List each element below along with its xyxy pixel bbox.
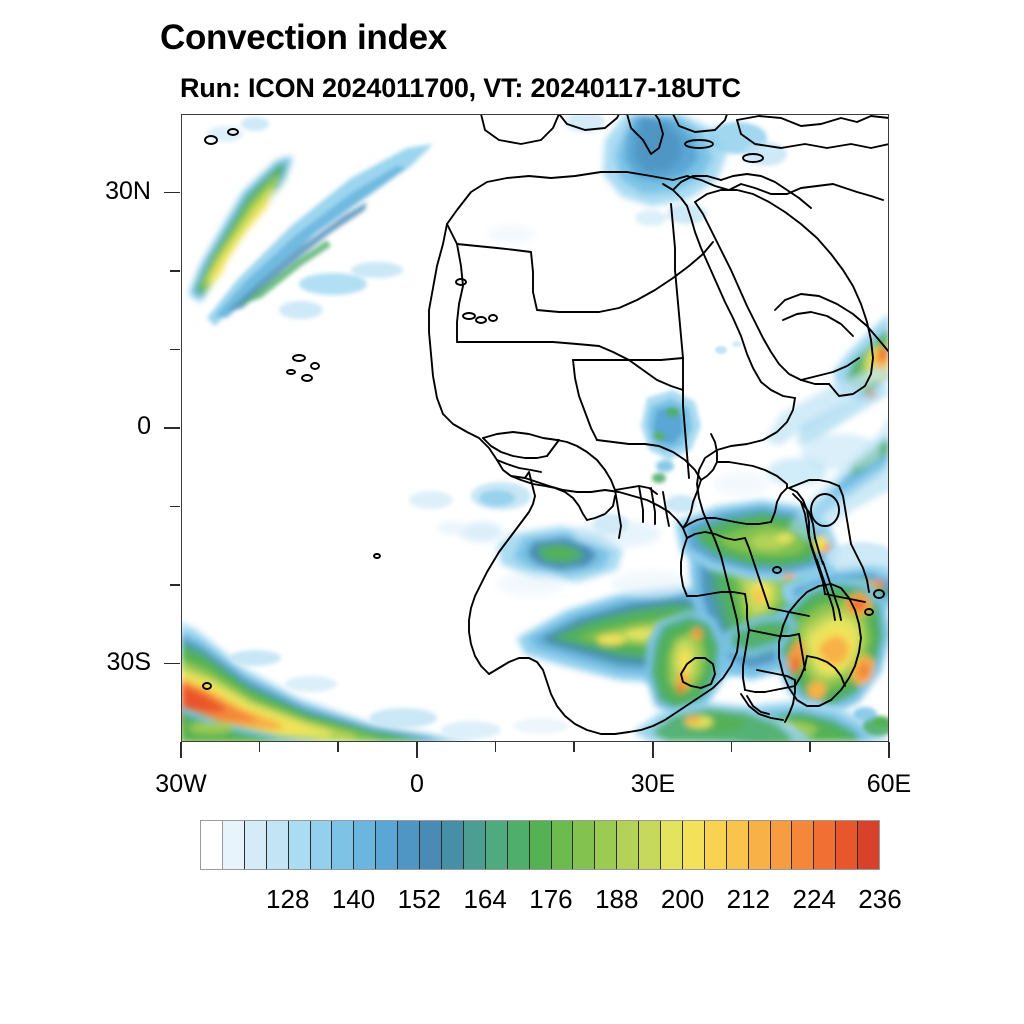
colorbar-cell[interactable] — [552, 821, 574, 869]
colorbar-cell[interactable] — [398, 821, 420, 869]
y-axis-tick — [170, 584, 180, 586]
x-axis-label-30w: 30W — [101, 770, 261, 799]
colorbar-cell[interactable] — [639, 821, 661, 869]
x-axis-label-60e: 60E — [809, 770, 969, 799]
colorbar-cell[interactable] — [595, 821, 617, 869]
colorbar-cell[interactable] — [530, 821, 552, 869]
map-plot-area — [181, 114, 889, 742]
colorbar-cell[interactable] — [267, 821, 289, 869]
colorbar-cell[interactable] — [311, 821, 333, 869]
x-axis-tick — [573, 742, 575, 752]
y-axis-label-30n: 30N — [0, 177, 151, 206]
y-axis-tick — [170, 270, 180, 272]
y-axis-tick — [170, 349, 180, 351]
colorbar-cell[interactable] — [508, 821, 530, 869]
x-axis-tick — [416, 742, 418, 758]
colorbar-cell[interactable] — [245, 821, 267, 869]
colorbar-cell[interactable] — [771, 821, 793, 869]
x-axis-tick — [731, 742, 733, 752]
colorbar[interactable] — [200, 820, 880, 870]
y-axis-tick — [164, 427, 180, 429]
x-axis-tick — [180, 742, 182, 758]
page-title: Convection index — [160, 18, 447, 58]
colorbar-cell[interactable] — [332, 821, 354, 869]
map-svg — [181, 114, 889, 742]
x-axis-tick — [337, 742, 339, 752]
colorbar-cell[interactable] — [836, 821, 858, 869]
colorbar-cell[interactable] — [683, 821, 705, 869]
colorbar-label-236: 236 — [820, 884, 940, 915]
colorbar-cell[interactable] — [464, 821, 486, 869]
colorbar-cell[interactable] — [573, 821, 595, 869]
colorbar-cell[interactable] — [858, 821, 879, 869]
x-axis-label-30e: 30E — [573, 770, 733, 799]
x-axis-tick — [809, 742, 811, 752]
x-axis-tick — [888, 742, 890, 758]
colorbar-cell[interactable] — [749, 821, 771, 869]
colorbar-cell[interactable] — [705, 821, 727, 869]
colorbar-cell[interactable] — [486, 821, 508, 869]
colorbar-cell[interactable] — [617, 821, 639, 869]
y-axis-tick — [164, 192, 180, 194]
x-axis-tick — [495, 742, 497, 752]
colorbar-cell[interactable] — [201, 821, 223, 869]
x-axis-tick — [652, 742, 654, 758]
y-axis-tick — [164, 663, 180, 665]
colorbar-cell[interactable] — [354, 821, 376, 869]
colorbar-cell[interactable] — [289, 821, 311, 869]
colorbar-cell[interactable] — [223, 821, 245, 869]
colorbar-cell[interactable] — [814, 821, 836, 869]
colorbar-cell[interactable] — [420, 821, 442, 869]
x-axis-tick — [259, 742, 261, 752]
y-axis-label-0: 0 — [0, 412, 151, 441]
colorbar-cell[interactable] — [727, 821, 749, 869]
colorbar-cell[interactable] — [792, 821, 814, 869]
y-axis-tick — [170, 506, 180, 508]
y-axis-label-30s: 30S — [0, 648, 151, 677]
run-valid-time-subtitle: Run: ICON 2024011700, VT: 20240117-18UTC — [180, 73, 741, 104]
colorbar-cell[interactable] — [442, 821, 464, 869]
colorbar-cell[interactable] — [376, 821, 398, 869]
convection-index-figure: Convection index Run: ICON 2024011700, V… — [0, 0, 1024, 1024]
colorbar-cell[interactable] — [661, 821, 683, 869]
x-axis-label-0: 0 — [337, 770, 497, 799]
